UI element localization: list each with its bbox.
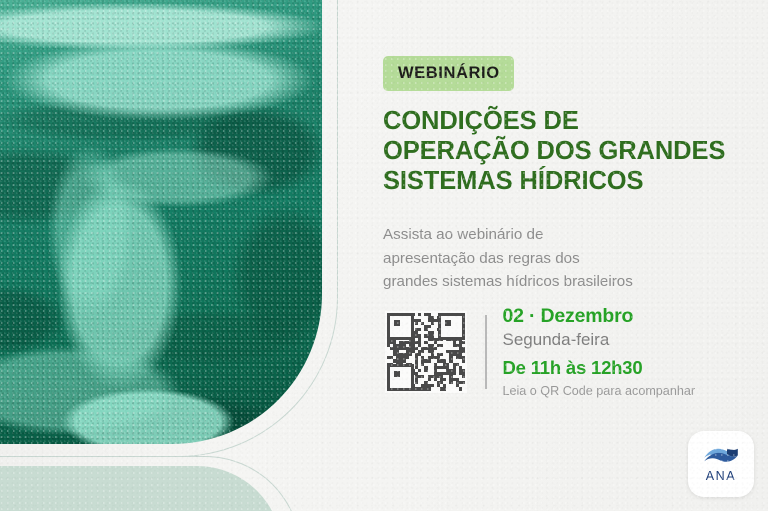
vertical-divider: [485, 315, 487, 389]
qr-finder-bottom-left: [387, 364, 414, 391]
title-line-1: CONDIÇÕES DE: [383, 107, 579, 135]
date-separator: ·: [529, 305, 535, 327]
ana-logo[interactable]: ANA: [688, 431, 754, 497]
title-line-3: SISTEMAS HÍDRICOS: [383, 167, 643, 195]
event-text-block: 02 · Dezembro Segunda-feira De 11h às 12…: [503, 304, 696, 399]
event-date: 02 · Dezembro: [503, 304, 696, 328]
event-month: Dezembro: [541, 305, 634, 327]
photo-grain: [0, 0, 322, 444]
subtitle-line-2: apresentação das regras dos: [383, 250, 580, 267]
webinar-poster: WEBINÁRIO CONDIÇÕES DE OPERAÇÃO DOS GRAN…: [0, 0, 768, 511]
ana-logo-text: ANA: [706, 469, 737, 483]
webinar-badge: WEBINÁRIO: [383, 56, 514, 91]
event-weekday: Segunda-feira: [503, 329, 696, 351]
qr-code[interactable]: [385, 311, 467, 393]
title-line-2: OPERAÇÃO DOS GRANDES: [383, 137, 725, 165]
subtitle: Assista ao webinário de apresentação das…: [383, 223, 748, 292]
sage-decorative-shape: [0, 466, 282, 511]
ana-wave-icon: [703, 445, 739, 467]
photo-panel: [0, 0, 322, 444]
qr-finder-top-right: [438, 313, 465, 340]
subtitle-line-1: Assista ao webinário de: [383, 226, 543, 243]
subtitle-line-3: grandes sistemas hídricos brasileiros: [383, 273, 633, 290]
event-time: De 11h às 12h30: [503, 356, 696, 380]
qr-instruction: Leia o QR Code para acompanhar: [503, 383, 696, 399]
qr-finder-top-left: [387, 313, 414, 340]
page-title: CONDIÇÕES DE OPERAÇÃO DOS GRANDES SISTEM…: [383, 107, 743, 196]
event-details: 02 · Dezembro Segunda-feira De 11h às 12…: [385, 304, 695, 399]
event-day: 02: [503, 305, 524, 327]
